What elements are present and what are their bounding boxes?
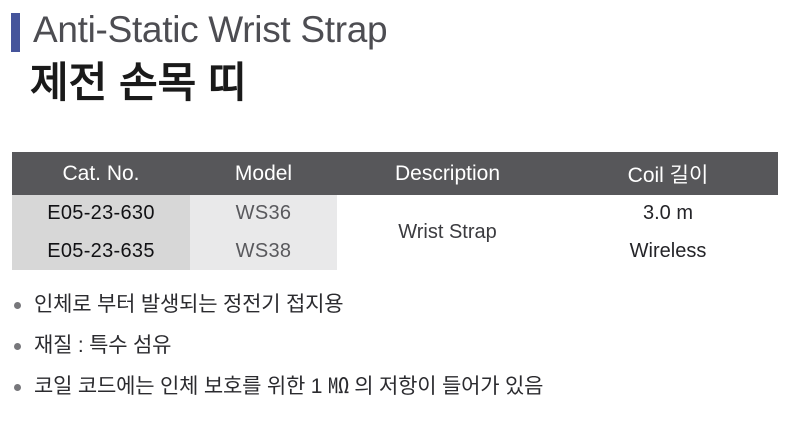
cell-description-merged: Wrist Strap bbox=[337, 195, 558, 270]
product-title-english: Anti-Static Wrist Strap bbox=[33, 5, 387, 55]
cell-cat-no: E05-23-635 bbox=[12, 233, 190, 271]
cell-model: WS36 bbox=[190, 195, 337, 233]
feature-text: 재질 : 특수 섬유 bbox=[34, 334, 171, 357]
cell-cat-no: E05-23-630 bbox=[12, 195, 190, 233]
column-header-coil-length: Coil 길이 bbox=[558, 152, 778, 195]
column-header-description: Description bbox=[337, 152, 558, 195]
product-title-korean: 제전 손목 띠 bbox=[30, 54, 247, 112]
specification-table: Cat. No. Model Description Coil 길이 E05-2… bbox=[12, 152, 778, 270]
table-row: E05-23-630 WS36 Wrist Strap 3.0 m bbox=[12, 195, 778, 233]
table-header-row: Cat. No. Model Description Coil 길이 bbox=[12, 152, 778, 195]
column-header-cat-no: Cat. No. bbox=[12, 152, 190, 195]
feature-text: 코일 코드에는 인체 보호를 위한 1 ㏁ 의 저항이 들어가 있음 bbox=[34, 375, 543, 398]
cell-coil-length: 3.0 m bbox=[558, 195, 778, 233]
bullet-dot-icon bbox=[14, 343, 21, 350]
accent-bar-icon bbox=[11, 13, 20, 52]
list-item: 코일 코드에는 인체 보호를 위한 1 ㏁ 의 저항이 들어가 있음 bbox=[12, 366, 792, 407]
bullet-dot-icon bbox=[14, 384, 21, 391]
cell-coil-length: Wireless bbox=[558, 233, 778, 271]
feature-text: 인체로 부터 발생되는 정전기 접지용 bbox=[34, 293, 343, 316]
list-item: 인체로 부터 발생되는 정전기 접지용 bbox=[12, 284, 792, 325]
product-header: Anti-Static Wrist Strap 제전 손목 띠 bbox=[0, 0, 800, 140]
bullet-dot-icon bbox=[14, 302, 21, 309]
list-item: 재질 : 특수 섬유 bbox=[12, 325, 792, 366]
cell-model: WS38 bbox=[190, 233, 337, 271]
column-header-model: Model bbox=[190, 152, 337, 195]
feature-list: 인체로 부터 발생되는 정전기 접지용 재질 : 특수 섬유 코일 코드에는 인… bbox=[12, 284, 792, 407]
